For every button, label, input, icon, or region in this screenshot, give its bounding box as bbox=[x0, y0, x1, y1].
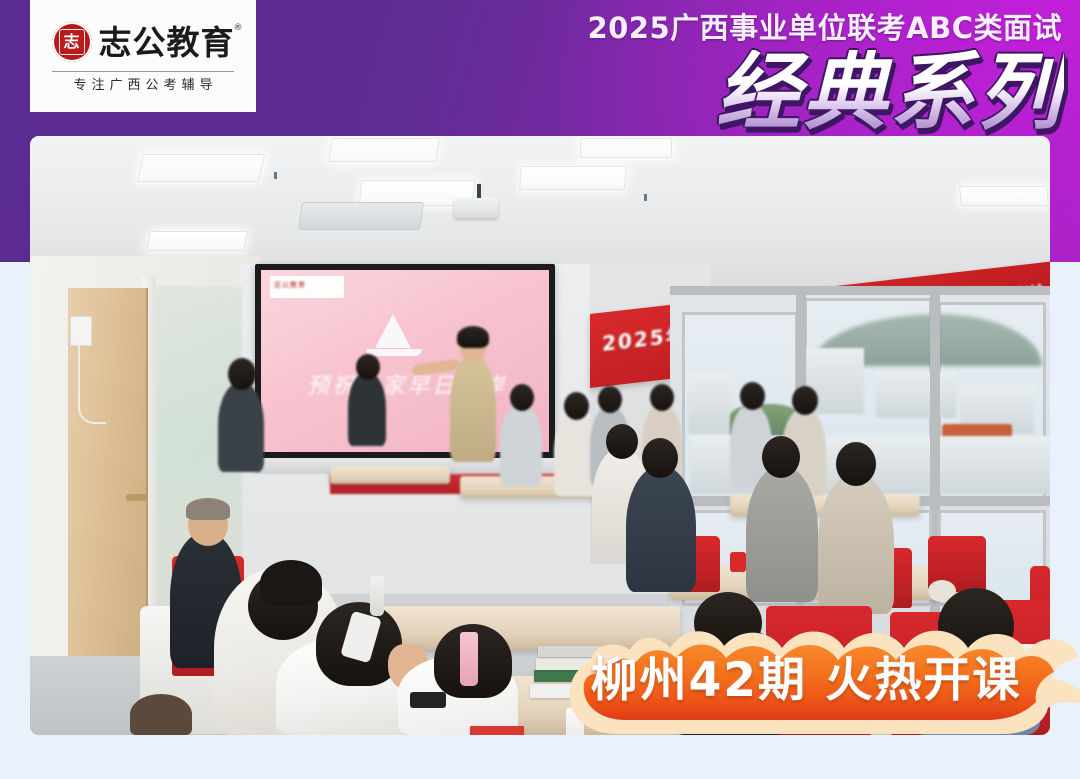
phone bbox=[410, 692, 446, 708]
student-head bbox=[792, 386, 818, 415]
student-head bbox=[740, 382, 765, 410]
projector-icon bbox=[454, 198, 498, 218]
registered-mark: ® bbox=[234, 24, 244, 33]
brand-tagline: 专注广西公考辅导 bbox=[68, 79, 217, 92]
student-body bbox=[746, 466, 818, 602]
ceiling-light-icon bbox=[146, 231, 248, 251]
student-head bbox=[836, 442, 876, 486]
door-handle bbox=[126, 494, 148, 501]
city-building bbox=[876, 372, 956, 418]
student-head bbox=[606, 424, 638, 459]
student-body bbox=[500, 404, 542, 486]
course-launch-banner: 柳州42期 火热开课 bbox=[556, 616, 1080, 738]
window-head bbox=[670, 286, 1050, 295]
student-body bbox=[818, 474, 894, 614]
city-building bbox=[688, 372, 734, 434]
phone-cord bbox=[78, 342, 106, 424]
water-bottle bbox=[460, 632, 478, 686]
student-head bbox=[642, 438, 678, 478]
course-launch-text: 柳州42期 火热开课 bbox=[556, 616, 1056, 738]
student-head bbox=[564, 392, 589, 420]
ceiling-light-icon bbox=[328, 138, 440, 162]
water-bottle bbox=[370, 576, 384, 616]
promo-poster: 志 志公教育® 专注广西公考辅导 2025广西事业单位联考ABC类面试 经典系列 bbox=[0, 0, 1080, 779]
ceiling-light-icon bbox=[137, 154, 265, 182]
teacher-body bbox=[450, 354, 496, 462]
air-vent bbox=[298, 202, 424, 230]
student-hair bbox=[260, 560, 322, 606]
ceiling-sensor bbox=[274, 172, 277, 179]
table bbox=[330, 466, 450, 484]
teacher-hair bbox=[457, 326, 489, 348]
student-hair bbox=[186, 498, 230, 520]
student-body bbox=[348, 372, 386, 446]
student-head bbox=[510, 384, 534, 411]
logo-divider bbox=[52, 71, 234, 72]
sailboat-hull bbox=[366, 349, 422, 356]
ceiling-light-icon bbox=[519, 166, 627, 190]
desk-item bbox=[730, 552, 746, 572]
brand-logo-card: 志 志公教育® 专注广西公考辅导 bbox=[30, 0, 256, 112]
student-head bbox=[762, 436, 800, 478]
student-body bbox=[626, 466, 696, 592]
student-head bbox=[228, 358, 256, 390]
exam-title: 2025广西事业单位联考ABC类面试 bbox=[587, 14, 1062, 43]
student-head bbox=[650, 384, 674, 411]
student-body bbox=[218, 382, 264, 472]
sailboat-icon bbox=[375, 314, 411, 348]
series-title: 经典系列 bbox=[716, 50, 1064, 134]
ceiling-sensor bbox=[644, 194, 647, 201]
student-head bbox=[356, 354, 380, 380]
ceiling-light-icon bbox=[580, 138, 672, 158]
book bbox=[470, 726, 524, 735]
bag bbox=[130, 694, 192, 735]
ceiling-light-icon bbox=[959, 186, 1049, 206]
slide-logo-text: 志公教育 bbox=[274, 280, 306, 290]
seal-character: 志 bbox=[52, 22, 92, 62]
student-head bbox=[598, 386, 622, 413]
brand-logo-row: 志 志公教育® bbox=[52, 22, 235, 62]
brand-name: 志公教育® bbox=[99, 26, 235, 59]
seal-icon: 志 bbox=[52, 22, 92, 62]
brand-name-text: 志公教育 bbox=[99, 23, 235, 62]
